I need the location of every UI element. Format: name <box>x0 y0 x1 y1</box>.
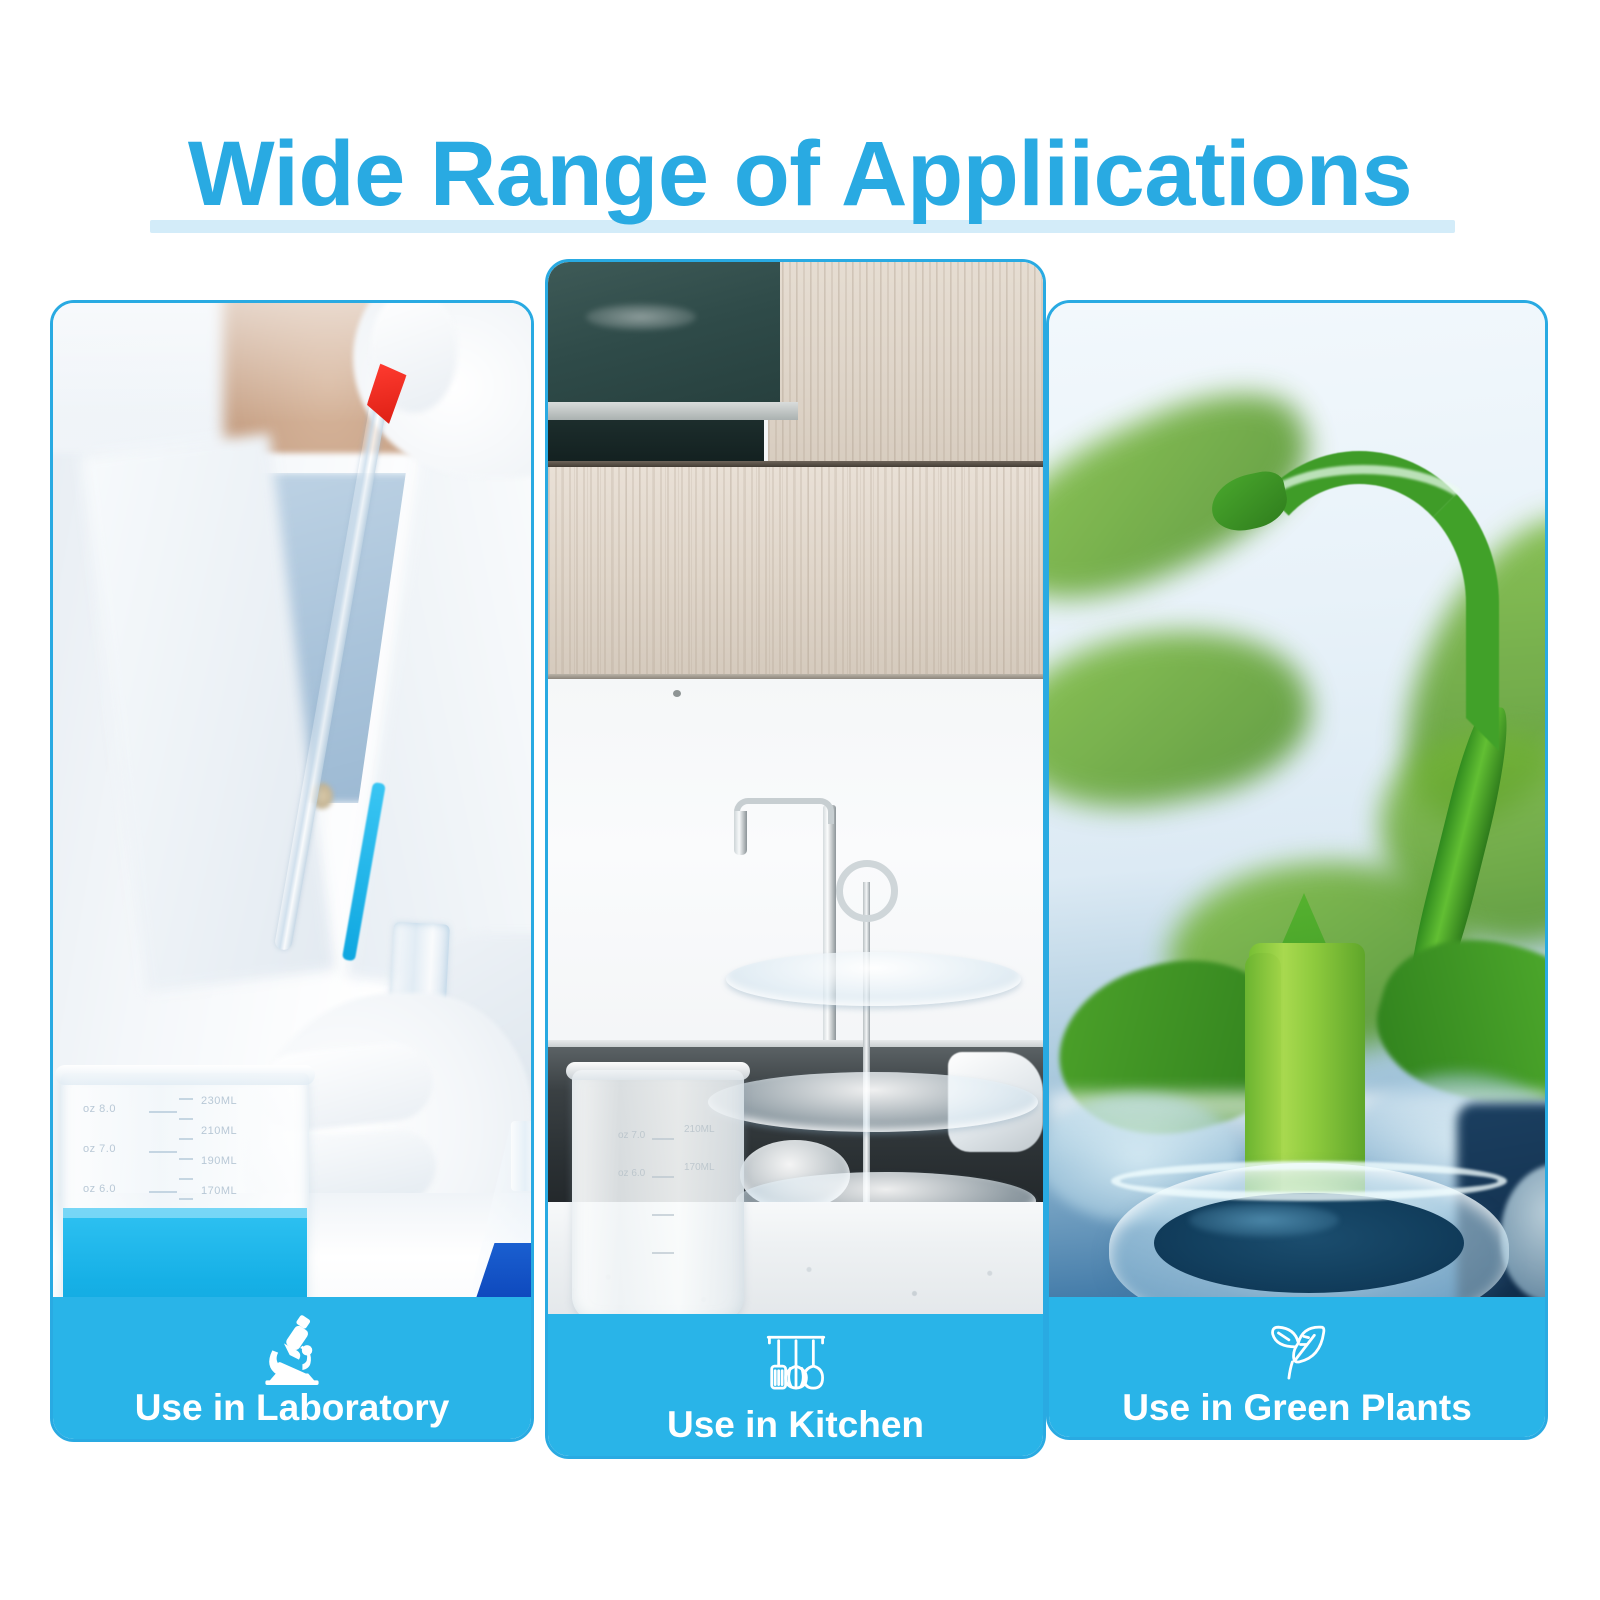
cabinet-screw <box>673 690 681 697</box>
beaker-tick <box>149 1191 177 1193</box>
beaker-tick <box>179 1098 193 1100</box>
cup-tick <box>652 1214 674 1216</box>
green-plants-photo <box>1049 303 1545 1303</box>
faucet-column <box>823 805 836 1065</box>
cup-graduation-ml-1: 210ML <box>684 1124 715 1135</box>
beaker-graduation-ml-3: 190ML <box>201 1155 237 1167</box>
kitchen-utensils-icon <box>759 1328 833 1402</box>
beaker-graduation-oz-1: oz 8.0 <box>83 1103 116 1115</box>
microscope-icon <box>255 1311 329 1385</box>
glass-plate-top <box>726 952 1021 1006</box>
application-card-green-plants[interactable]: Use in Green Plants <box>1046 300 1548 1440</box>
caption-label-kitchen: Use in Kitchen <box>667 1404 924 1446</box>
beaker-graduation-ml-1: 230ML <box>201 1095 237 1107</box>
measuring-cup-rim <box>566 1062 750 1080</box>
range-hood <box>548 262 780 402</box>
beaker-rim <box>55 1065 315 1085</box>
cup-tick <box>652 1252 674 1254</box>
beaker-tick <box>179 1138 193 1140</box>
flask-neck <box>511 1121 531 1191</box>
page-title: Wide Range of Appliications <box>0 122 1600 226</box>
beaker-tick <box>179 1158 193 1160</box>
cup-graduation-ml-2: 170ML <box>684 1162 715 1173</box>
cabinet-door <box>548 467 1043 677</box>
kitchen-photo: oz 7.0 oz 6.0 210ML 170ML <box>548 262 1043 1320</box>
caption-bar-green-plants: Use in Green Plants <box>1049 1297 1545 1437</box>
cup-graduation-oz-2: oz 6.0 <box>618 1168 645 1179</box>
leaf-icon <box>1260 1311 1334 1385</box>
cup-tick <box>652 1138 674 1140</box>
caption-label-laboratory: Use in Laboratory <box>135 1387 450 1429</box>
beaker-tick <box>149 1111 177 1113</box>
caption-label-green-plants: Use in Green Plants <box>1122 1387 1472 1429</box>
beaker-graduation-ml-2: 210ML <box>201 1125 237 1137</box>
beaker-graduation-oz-2: oz 7.0 <box>83 1143 116 1155</box>
faucet-bend <box>734 798 834 824</box>
glass-dish-rim <box>1111 1161 1507 1201</box>
beaker-tick <box>149 1151 177 1153</box>
beaker-tick <box>179 1118 193 1120</box>
beaker-cyan-liquid <box>63 1208 307 1303</box>
beaker-graduation-ml-4: 170ML <box>201 1185 237 1197</box>
faucet-spout <box>734 811 747 855</box>
beaker-tick <box>179 1198 193 1200</box>
caption-bar-kitchen: Use in Kitchen <box>548 1314 1043 1456</box>
beaker-graduation-oz-3: oz 6.0 <box>83 1183 116 1195</box>
measuring-cup <box>572 1070 744 1320</box>
caption-bar-laboratory: Use in Laboratory <box>53 1297 531 1439</box>
application-card-laboratory[interactable]: oz 8.0 oz 7.0 oz 6.0 230ML 210ML 190ML 1… <box>50 300 534 1442</box>
application-card-kitchen[interactable]: oz 7.0 oz 6.0 210ML 170ML <box>545 259 1046 1459</box>
water-reflection <box>1189 1203 1339 1237</box>
range-hood-highlight <box>586 304 696 330</box>
range-hood-lip <box>548 402 798 420</box>
dish-rack-handle-ring <box>836 860 898 922</box>
page-header: Wide Range of Appliications <box>0 60 1600 190</box>
cup-graduation-oz-1: oz 7.0 <box>618 1130 645 1141</box>
cup-tick <box>652 1176 674 1178</box>
beaker-tick <box>179 1178 193 1180</box>
upper-cabinet-panel <box>768 262 1043 462</box>
laboratory-photo: oz 8.0 oz 7.0 oz 6.0 230ML 210ML 190ML 1… <box>53 303 531 1303</box>
glass-plate-middle <box>708 1072 1038 1132</box>
